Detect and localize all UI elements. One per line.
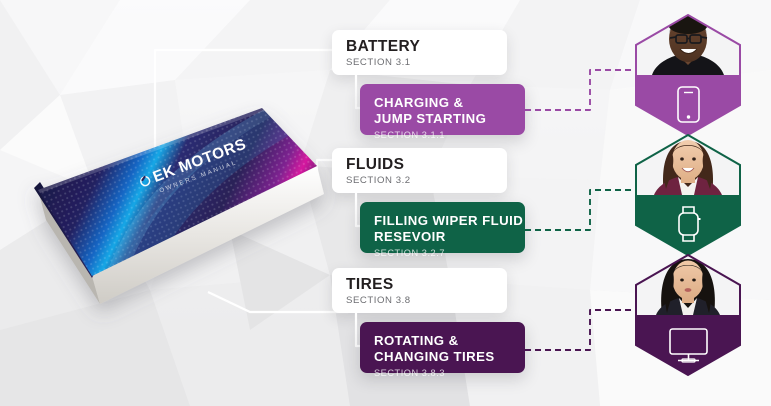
card-fluids-title: FLUIDS (346, 157, 507, 174)
infographic-canvas: EK MOTORS OWNERS MANUAL BATTERY SECTION … (0, 0, 771, 406)
card-tires-section: SECTION 3.8 (346, 296, 507, 307)
card-filling-title-line2: RESEVOIR (374, 229, 525, 245)
card-rotating-section: SECTION 3.8.3 (374, 368, 525, 378)
card-tires[interactable]: TIRES SECTION 3.8 (332, 268, 507, 313)
card-rotating-title-line2: CHANGING TIRES (374, 349, 525, 365)
owners-manual-book: EK MOTORS OWNERS MANUAL (20, 108, 330, 323)
connector-filling-to-hex-2 (522, 178, 637, 243)
hexagon-persona-3[interactable] (632, 253, 744, 377)
card-charging-title-line2: JUMP STARTING (374, 111, 525, 127)
card-tires-title: TIRES (346, 277, 507, 294)
card-filling-title-line1: FILLING WIPER FLUID (374, 213, 525, 229)
hexagon-persona-2[interactable] (632, 133, 744, 257)
persona-2-photo (632, 133, 744, 257)
connector-rotating-to-hex-3 (522, 298, 637, 363)
connector-charging-to-hex-1 (522, 58, 637, 123)
card-charging-section: SECTION 3.1.1 (374, 130, 525, 140)
card-charging-title-line1: CHARGING & (374, 95, 525, 111)
card-fluids-section: SECTION 3.2 (346, 176, 507, 187)
card-battery-section: SECTION 3.1 (346, 58, 507, 69)
card-filling-section: SECTION 3.2.7 (374, 248, 525, 258)
card-battery-title: BATTERY (346, 39, 507, 56)
card-rotating-title-line1: ROTATING & (374, 333, 525, 349)
card-battery[interactable]: BATTERY SECTION 3.1 (332, 30, 507, 75)
card-filling-wiper-fluid[interactable]: FILLING WIPER FLUID RESEVOIR SECTION 3.2… (360, 202, 525, 253)
card-fluids[interactable]: FLUIDS SECTION 3.2 (332, 148, 507, 193)
card-charging-jump-starting[interactable]: CHARGING & JUMP STARTING SECTION 3.1.1 (360, 84, 525, 135)
card-rotating-changing-tires[interactable]: ROTATING & CHANGING TIRES SECTION 3.8.3 (360, 322, 525, 373)
hexagon-persona-1[interactable] (632, 13, 744, 137)
